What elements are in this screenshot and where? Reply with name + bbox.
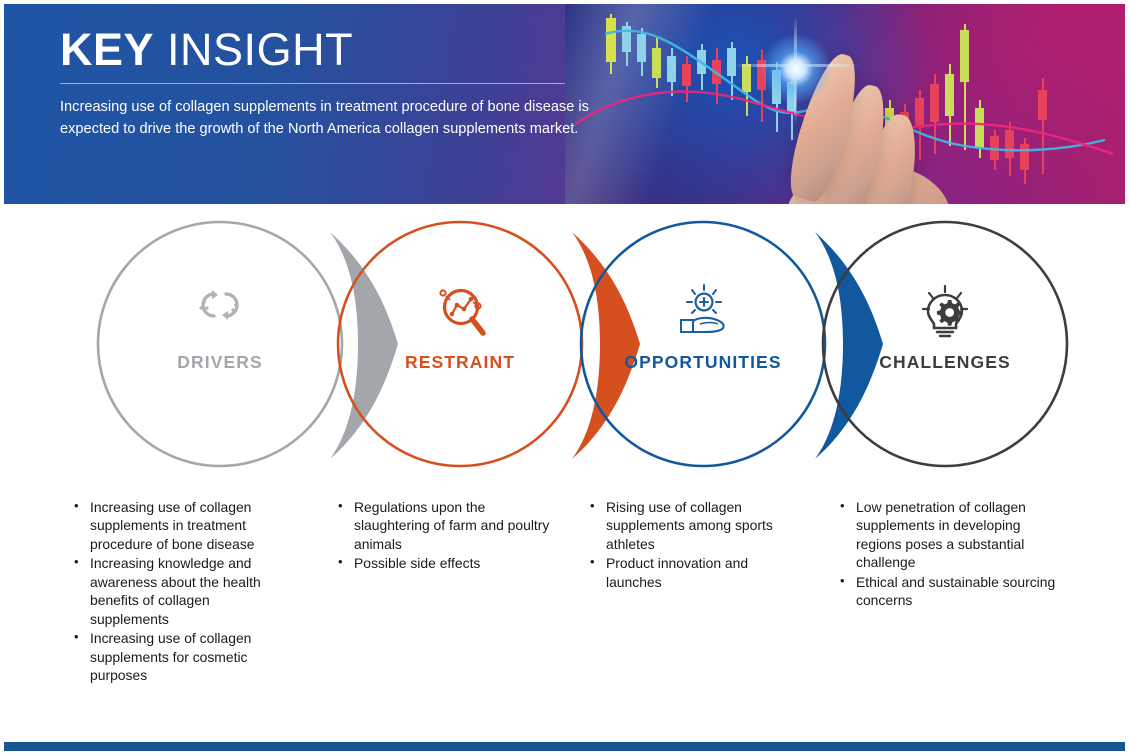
list-item: Regulations upon the slaughtering of far…: [336, 498, 551, 553]
hand-holding-shining-plus-icon: [673, 284, 733, 342]
bullet-columns: Increasing use of collagen supplements i…: [0, 498, 1129, 733]
header-text-block: KEY INSIGHT Increasing use of collagen s…: [60, 26, 620, 141]
list-item: Possible side effects: [336, 554, 551, 572]
header-subtitle: Increasing use of collagen supplements i…: [60, 96, 620, 140]
list-item: Increasing use of collagen supplements i…: [72, 498, 287, 553]
title-light-part: INSIGHT: [167, 24, 353, 75]
flow-diagram: DRIVERS RESTRAINT: [0, 204, 1129, 504]
title-bold-part: KEY: [60, 24, 154, 75]
flow-node-restraint[interactable]: RESTRAINT: [338, 222, 582, 466]
list-item: Rising use of collagen supplements among…: [588, 498, 788, 553]
flow-node-challenges[interactable]: CHALLENGES: [823, 222, 1067, 466]
header-photo: [565, 4, 1125, 204]
flow-node-drivers[interactable]: DRIVERS: [98, 222, 342, 466]
bullet-column-challenges: Low penetration of collagen supplements …: [838, 498, 1056, 611]
header-divider: [60, 83, 565, 84]
list-item: Low penetration of collagen supplements …: [838, 498, 1056, 572]
footer-bar: [4, 742, 1125, 751]
flow-node-opportunities[interactable]: OPPORTUNITIES: [581, 222, 825, 466]
touch-point-glow: [761, 34, 831, 104]
header-banner: KEY INSIGHT Increasing use of collagen s…: [4, 4, 1125, 204]
cycle-arrows-icon: [190, 284, 250, 342]
list-item: Ethical and sustainable sourcing concern…: [838, 573, 1056, 610]
list-item: Product innovation and launches: [588, 554, 788, 591]
list-item: Increasing use of collagen supplements f…: [72, 629, 287, 684]
magnifier-data-graph-icon: [430, 284, 490, 342]
bullet-column-restraint: Regulations upon the slaughtering of far…: [336, 498, 551, 574]
node-label: CHALLENGES: [823, 352, 1067, 373]
node-label: RESTRAINT: [338, 352, 582, 373]
node-label: OPPORTUNITIES: [581, 352, 825, 373]
lightbulb-gear-icon: [915, 284, 975, 342]
node-label: DRIVERS: [98, 352, 342, 373]
bullet-column-drivers: Increasing use of collagen supplements i…: [72, 498, 287, 686]
infographic-page: KEY INSIGHT Increasing use of collagen s…: [0, 0, 1129, 755]
page-title: KEY INSIGHT: [60, 26, 620, 73]
bullet-column-opportunities: Rising use of collagen supplements among…: [588, 498, 788, 592]
list-item: Increasing knowledge and awareness about…: [72, 554, 287, 628]
